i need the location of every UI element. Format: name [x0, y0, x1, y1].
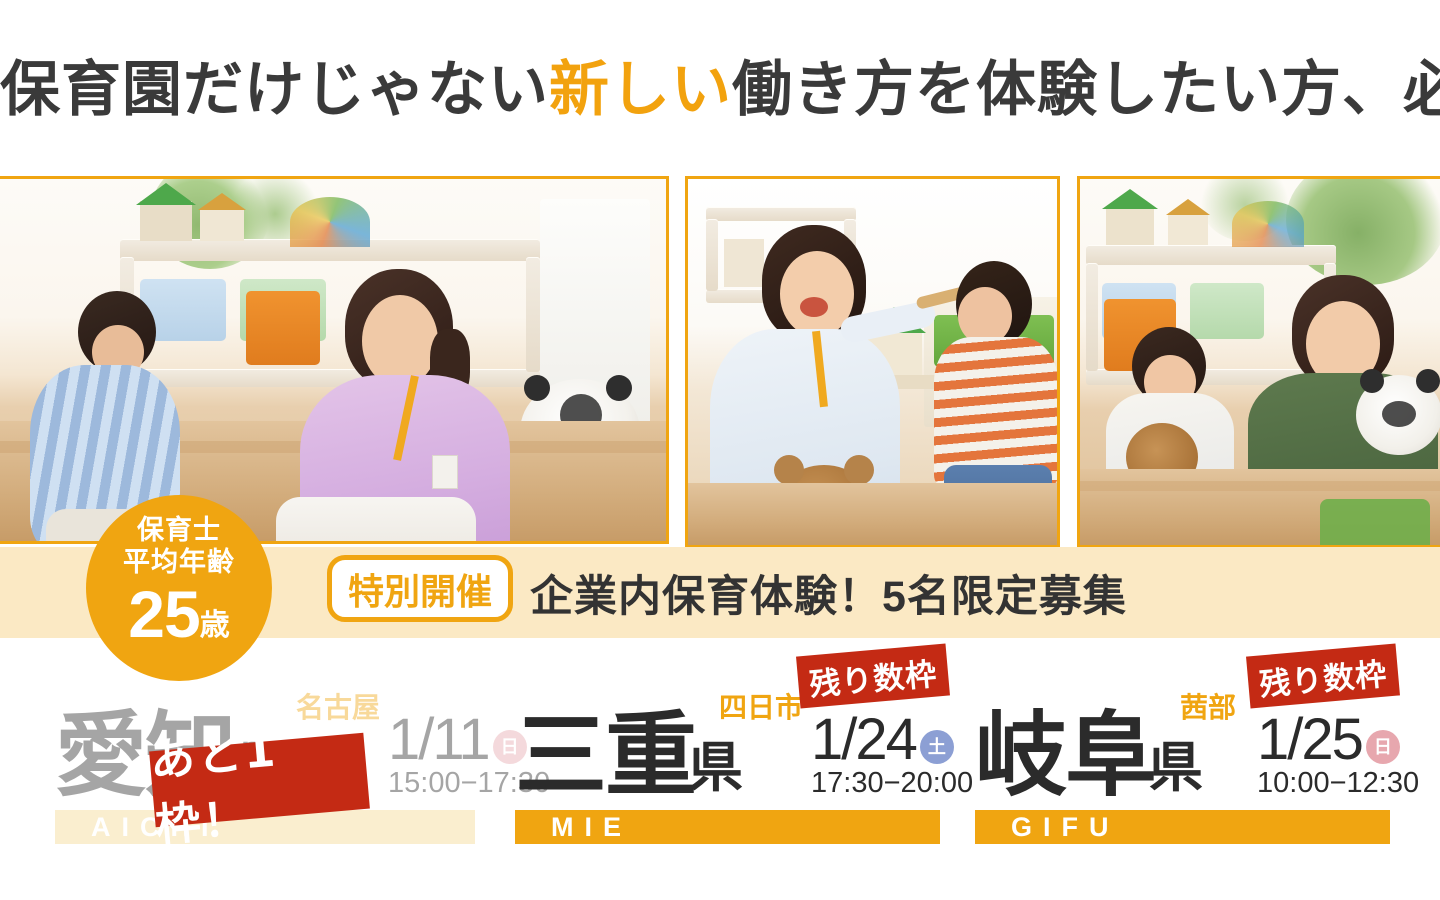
gifu-day-of-week: 日	[1366, 730, 1400, 764]
mie-en-label: MIE	[551, 812, 632, 843]
mie-date: 1/24	[811, 714, 916, 766]
special-event-tag: 特別開催	[327, 555, 513, 622]
mie-ken-suffix: 県	[689, 741, 743, 795]
average-age-badge: 保育士 平均年齢 25歳	[86, 495, 272, 681]
photo-strip	[0, 176, 1440, 548]
gifu-name-block: 岐阜 県	[975, 716, 1203, 797]
special-event-tag-label: 特別開催	[348, 563, 492, 615]
photo-feeding-child	[685, 176, 1060, 548]
mie-name-block: 三重 県	[515, 716, 743, 797]
mie-city-tag: 四日市	[719, 694, 803, 722]
gifu-time: 10:00−12:30	[1257, 767, 1419, 800]
gifu-date-block: 1/25 日 10:00−12:30	[1257, 714, 1419, 800]
photo-nursery-play	[0, 176, 669, 544]
mie-time: 17:30−20:00	[811, 767, 973, 800]
mie-day-of-week: 土	[920, 730, 954, 764]
gifu-ken-suffix: 県	[1149, 741, 1203, 795]
special-event-text: 企業内保育体験！5名限定募集	[530, 562, 1127, 624]
gifu-en-label: GIFU	[1011, 812, 1120, 843]
age-badge-unit: 歳	[200, 609, 230, 642]
age-badge-line1: 保育士	[86, 515, 272, 547]
gifu-en-bar: GIFU	[975, 810, 1390, 844]
page-title: 保育園だけじゃない新しい働き方を体験したい方、必見！	[0, 60, 1440, 120]
gifu-date: 1/25	[1257, 714, 1362, 766]
aichi-remaining-sticker: あと1枠！	[149, 733, 370, 827]
mie-en-bar: MIE	[515, 810, 940, 844]
age-badge-line2: 平均年齢	[86, 547, 272, 579]
headline-part1: 保育園だけじゃない	[0, 56, 549, 123]
gifu-prefecture: 岐阜	[975, 716, 1155, 797]
mie-prefecture: 三重	[515, 716, 695, 797]
gifu-city-tag: 茜部	[1180, 694, 1236, 722]
mie-date-block: 1/24 土 17:30−20:00	[811, 714, 973, 800]
photo-teacher-with-girl	[1077, 176, 1440, 548]
headline-part2: 働き方を体験したい方、必見！	[732, 56, 1440, 123]
age-badge-number: 25	[128, 577, 199, 651]
headline-accent: 新しい	[549, 56, 732, 123]
aichi-date: 1/11	[388, 714, 489, 766]
